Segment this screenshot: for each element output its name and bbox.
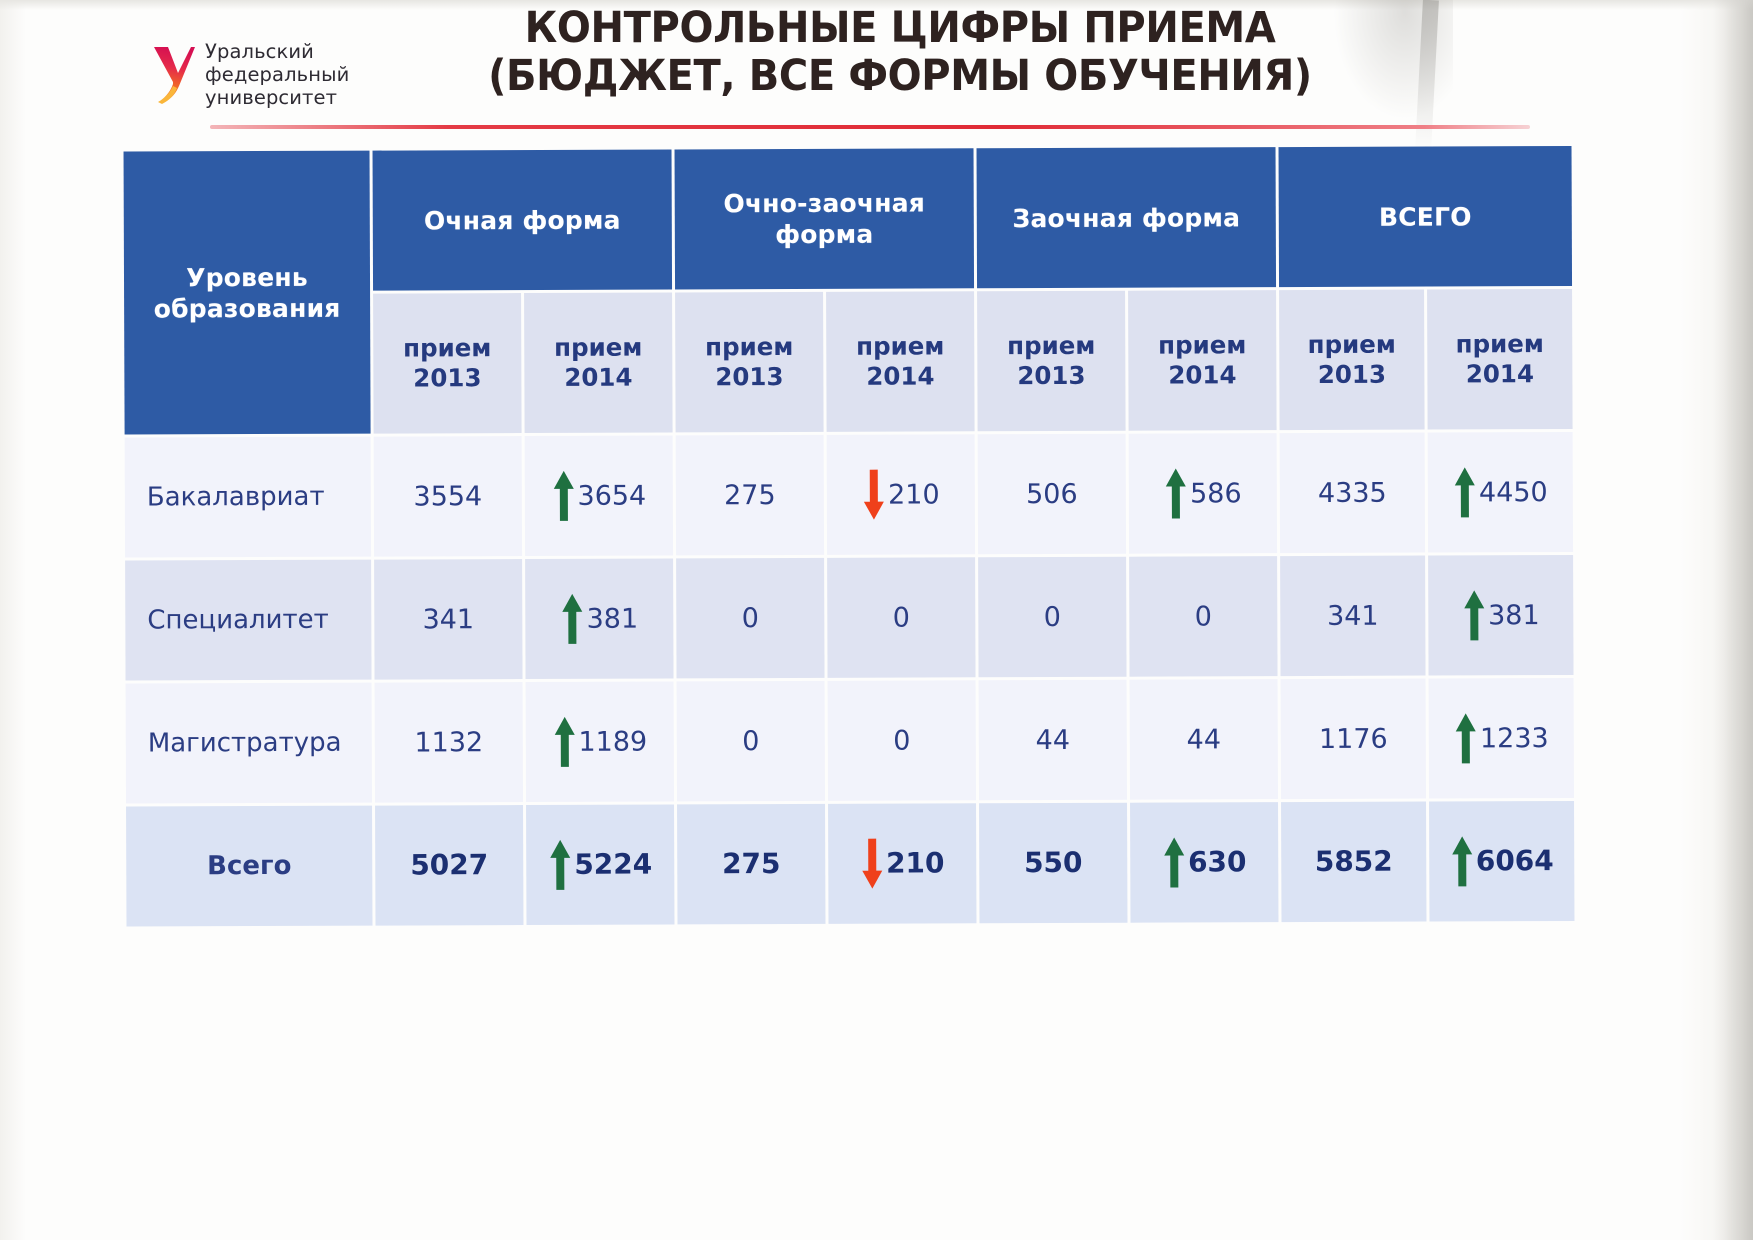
header-group-full-time: Очная форма <box>373 149 673 290</box>
page-title: КОНТРОЛЬНЫЕ ЦИФРЫ ПРИЕМА (БЮДЖЕТ, ВСЕ ФО… <box>435 4 1365 100</box>
arrow-down-icon <box>862 468 886 522</box>
arrow-up-icon <box>1450 834 1474 888</box>
cell-number: 381 <box>1488 602 1540 629</box>
cell-content: 0 <box>677 727 825 755</box>
header-intake-year: 2014 <box>1128 360 1276 391</box>
cell-number: 5027 <box>410 851 488 879</box>
table-head: Уровень образования Очная форма Очно-зао… <box>124 146 1573 435</box>
cell-content: 210 <box>827 467 975 522</box>
urfu-logo-icon <box>152 44 196 106</box>
cell-number: 0 <box>742 605 759 632</box>
header-intake-2013-col4: прием2013 <box>977 291 1126 432</box>
cell-number: 5224 <box>574 851 652 879</box>
header-intake-year: 2014 <box>524 362 672 393</box>
header-intake-2013-col2: прием2013 <box>675 292 824 433</box>
cell-value: 1176 <box>1281 679 1426 800</box>
header-intake-year: 2013 <box>675 362 823 393</box>
cell-number: 3554 <box>413 483 482 510</box>
cell-number: 275 <box>722 850 781 878</box>
cell-content: 275 <box>677 850 825 879</box>
cell-number: 210 <box>888 481 940 508</box>
cell-value: 3554 <box>374 436 522 557</box>
cell-value: 3654 <box>525 435 673 556</box>
cell-number: 4450 <box>1479 479 1548 506</box>
cell-number: 5852 <box>1315 848 1393 876</box>
cell-content: 341 <box>374 606 522 634</box>
header-intake-year: 2013 <box>373 363 521 394</box>
header-intake-label: прием <box>373 333 521 364</box>
header-education-level: Уровень образования <box>124 151 371 435</box>
cell-number: 630 <box>1188 848 1247 876</box>
page-edge-shadow <box>1713 0 1753 1240</box>
cell-number: 0 <box>893 727 910 754</box>
cell-education-level: Специалитет <box>125 560 371 681</box>
cell-number: 550 <box>1024 849 1083 877</box>
cell-value: 586 <box>1129 433 1277 554</box>
title-divider <box>210 125 1530 129</box>
cell-number: 341 <box>1327 602 1379 629</box>
cell-content: 44 <box>979 726 1127 754</box>
header-intake-label: прием <box>524 332 672 363</box>
cell-value: 0 <box>828 680 976 801</box>
page-title-line-1: КОНТРОЛЬНЫЕ ЦИФРЫ ПРИЕМА <box>525 3 1276 53</box>
header-intake-2013-col6: прием2013 <box>1279 290 1425 431</box>
cell-number: 0 <box>1195 603 1212 630</box>
header-intake-label: прием <box>1279 330 1424 361</box>
cell-content: 5852 <box>1281 848 1426 877</box>
header-intake-2014-col3: прием2014 <box>826 291 975 432</box>
cell-content: 550 <box>979 849 1127 878</box>
cell-number: 381 <box>586 605 638 632</box>
cell-value: 1189 <box>526 681 674 802</box>
cell-value: 5224 <box>526 804 674 925</box>
slide-header: Уральский федеральный университет КОНТРО… <box>0 0 1753 140</box>
cell-number: 3654 <box>577 482 646 509</box>
cell-number: 4335 <box>1318 479 1387 506</box>
cell-number: 44 <box>1187 726 1221 753</box>
cell-content: 1233 <box>1429 711 1574 766</box>
cell-number: 1132 <box>414 729 483 756</box>
table-row: Магистратура1132118900444411761233 <box>126 678 1574 804</box>
cell-content: 0 <box>1129 603 1277 631</box>
cell-number: 1189 <box>578 728 647 755</box>
header-intake-2013-col0: прием2013 <box>373 293 522 434</box>
admission-table-container: Уровень образования Очная форма Очно-зао… <box>121 143 1459 929</box>
urfu-logo-block: Уральский федеральный университет <box>152 40 349 109</box>
cell-education-level: Всего <box>126 806 372 927</box>
cell-value: 0 <box>1129 556 1277 677</box>
scanned-page: Уральский федеральный университет КОНТРО… <box>0 0 1753 1240</box>
cell-content: 5027 <box>375 851 523 880</box>
header-intake-label: прием <box>1128 330 1276 361</box>
cell-number: 6064 <box>1476 847 1554 875</box>
cell-number: 506 <box>1026 480 1078 507</box>
cell-number: 1233 <box>1480 725 1549 752</box>
cell-value: 4450 <box>1428 432 1573 553</box>
cell-value: 381 <box>1428 555 1573 676</box>
cell-value: 1132 <box>375 682 523 803</box>
cell-value: 275 <box>676 435 824 556</box>
arrow-up-icon <box>1453 465 1477 519</box>
header-intake-year: 2013 <box>977 361 1125 392</box>
cell-value: 0 <box>676 558 824 679</box>
cell-number: 0 <box>1044 603 1061 630</box>
cell-content: 1176 <box>1281 725 1426 753</box>
cell-value: 5027 <box>375 805 523 926</box>
cell-content: 210 <box>828 836 976 891</box>
arrow-up-icon <box>1454 711 1478 765</box>
header-intake-2014-col5: прием2014 <box>1128 290 1277 431</box>
header-intake-2014-col7: прием2014 <box>1427 289 1573 430</box>
cell-content: 1132 <box>375 729 523 757</box>
cell-content: 5224 <box>526 837 674 892</box>
cell-value: 0 <box>978 557 1126 678</box>
cell-content: 381 <box>1428 588 1573 643</box>
cell-content: 341 <box>1280 602 1425 630</box>
cell-value: 0 <box>827 557 975 678</box>
cell-number: 210 <box>886 849 945 877</box>
arrow-up-icon <box>560 592 584 646</box>
cell-value: 506 <box>978 434 1126 555</box>
header-intake-2014-col1: прием2014 <box>524 292 673 433</box>
header-intake-label: прием <box>977 331 1125 362</box>
cell-value: 210 <box>827 434 975 555</box>
arrow-up-icon <box>551 469 575 523</box>
header-group-correspondence: Заочная форма <box>977 147 1277 288</box>
page-title-line-2: (БЮДЖЕТ, ВСЕ ФОРМЫ ОБУЧЕНИЯ) <box>435 52 1365 100</box>
header-intake-year: 2014 <box>826 361 974 392</box>
cell-number: 0 <box>742 728 759 755</box>
cell-content: 3554 <box>374 483 522 511</box>
cell-content: 44 <box>1130 726 1278 754</box>
arrow-up-icon <box>1164 466 1188 520</box>
table-body: Бакалавриат3554365427521050658643354450С… <box>125 432 1575 927</box>
arrow-up-icon <box>1162 835 1186 889</box>
cell-number: 1176 <box>1319 725 1388 752</box>
cell-content: 4335 <box>1280 479 1425 507</box>
urfu-logo-text: Уральский федеральный университет <box>205 40 349 109</box>
table-row: Бакалавриат3554365427521050658643354450 <box>125 432 1573 558</box>
cell-value: 44 <box>1130 679 1278 800</box>
cell-content: 0 <box>978 603 1126 631</box>
cell-content: 506 <box>978 480 1126 508</box>
group-header-row: Уровень образования Очная форма Очно-зао… <box>124 146 1573 292</box>
cell-value: 4335 <box>1280 433 1425 554</box>
cell-content: 0 <box>828 727 976 755</box>
arrow-up-icon <box>552 715 576 769</box>
cell-content: 6064 <box>1429 834 1574 889</box>
cell-number: 275 <box>724 482 776 509</box>
cell-number: 0 <box>893 604 910 631</box>
cell-value: 341 <box>374 559 522 680</box>
arrow-down-icon <box>860 837 884 891</box>
cell-content: 586 <box>1129 466 1277 521</box>
table-row-total: Всего5027522427521055063058526064 <box>126 801 1574 927</box>
cell-education-level: Бакалавриат <box>125 437 371 558</box>
cell-value: 0 <box>677 681 825 802</box>
cell-value: 550 <box>979 803 1127 924</box>
arrow-up-icon <box>1462 588 1486 642</box>
cell-number: 586 <box>1190 480 1242 507</box>
header-intake-label: прием <box>826 331 974 362</box>
cell-value: 6064 <box>1429 801 1574 922</box>
header-group-total: ВСЕГО <box>1279 146 1573 287</box>
cell-value: 44 <box>979 680 1127 801</box>
table-row: Специалитет3413810000341381 <box>125 555 1573 681</box>
header-intake-label: прием <box>1427 329 1572 360</box>
cell-value: 210 <box>828 803 976 924</box>
cell-content: 4450 <box>1428 465 1573 520</box>
cell-content: 275 <box>676 481 824 509</box>
header-intake-year: 2014 <box>1427 359 1572 390</box>
cell-content: 381 <box>525 591 673 646</box>
header-group-evening: Очно-заочная форма <box>675 148 975 289</box>
header-intake-label: прием <box>675 332 823 363</box>
cell-content: 1189 <box>526 714 674 769</box>
cell-content: 0 <box>676 604 824 632</box>
cell-number: 341 <box>422 606 474 633</box>
cell-value: 630 <box>1130 802 1278 923</box>
cell-value: 5852 <box>1281 802 1426 923</box>
cell-content: 630 <box>1130 835 1278 890</box>
admission-table: Уровень образования Очная форма Очно-зао… <box>121 143 1578 930</box>
cell-value: 341 <box>1280 556 1425 677</box>
cell-value: 381 <box>525 558 673 679</box>
cell-content: 3654 <box>525 468 673 523</box>
cell-value: 1233 <box>1429 678 1574 799</box>
cell-education-level: Магистратура <box>126 683 372 804</box>
arrow-up-icon <box>548 838 572 892</box>
header-intake-year: 2013 <box>1279 360 1424 391</box>
cell-content: 0 <box>827 604 975 632</box>
cell-number: 44 <box>1036 726 1070 753</box>
cell-value: 275 <box>677 804 825 925</box>
